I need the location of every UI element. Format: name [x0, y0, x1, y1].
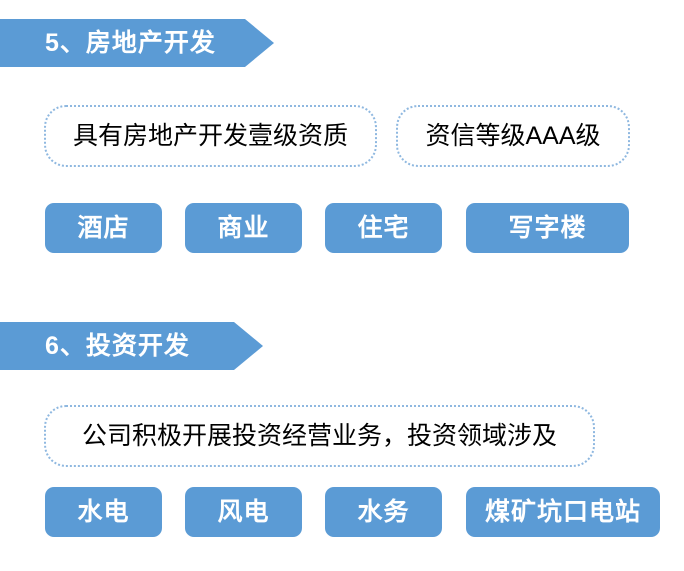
tag-button-label: 写字楼: [508, 216, 586, 241]
section-header-real-estate: 5、房地产开发: [0, 19, 274, 67]
tag-button-hotel[interactable]: 酒店: [45, 203, 162, 253]
info-box-investment-description: 公司积极开展投资经营业务，投资领域涉及: [44, 405, 595, 467]
tag-button-label: 水务: [357, 500, 409, 525]
section-header-label: 5、房地产开发: [45, 19, 216, 67]
tag-button-label: 水电: [77, 500, 129, 525]
info-box-qualification: 具有房地产开发壹级资质: [44, 105, 377, 167]
slide-canvas: 5、房地产开发 具有房地产开发壹级资质 资信等级AAA级 酒店 商业 住宅 写字…: [0, 0, 684, 571]
tag-button-water-utilities[interactable]: 水务: [325, 487, 442, 537]
tag-button-windpower[interactable]: 风电: [185, 487, 302, 537]
tag-button-label: 商业: [217, 216, 269, 241]
tag-button-coalmine-power-station[interactable]: 煤矿坑口电站: [466, 487, 660, 537]
info-box-credit-rating: 资信等级AAA级: [396, 105, 630, 167]
info-box-text: 资信等级AAA级: [425, 124, 600, 149]
section-header-label: 6、投资开发: [45, 322, 190, 370]
tag-button-label: 酒店: [77, 216, 129, 241]
tag-button-label: 住宅: [357, 216, 409, 241]
tag-button-label: 煤矿坑口电站: [485, 500, 641, 525]
info-box-text: 公司积极开展投资经营业务，投资领域涉及: [82, 424, 557, 449]
tag-button-label: 风电: [217, 500, 269, 525]
tag-button-office[interactable]: 写字楼: [466, 203, 629, 253]
section-header-investment: 6、投资开发: [0, 322, 263, 370]
tag-button-residence[interactable]: 住宅: [325, 203, 442, 253]
tag-button-commerce[interactable]: 商业: [185, 203, 302, 253]
tag-button-hydropower[interactable]: 水电: [45, 487, 162, 537]
info-box-text: 具有房地产开发壹级资质: [73, 124, 348, 149]
